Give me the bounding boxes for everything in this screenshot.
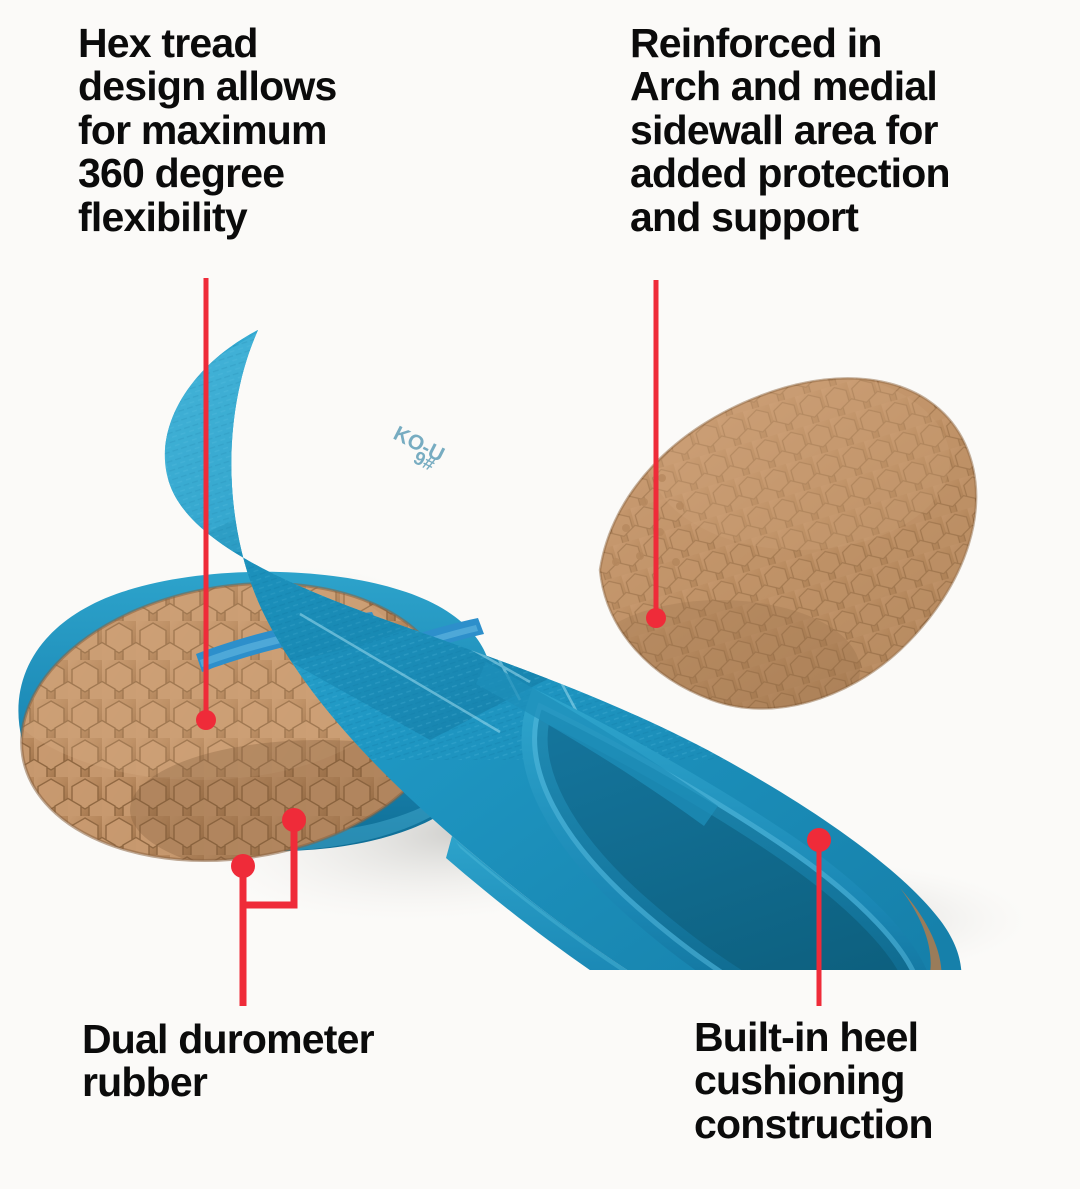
callout-dual-durometer: Dual durometer rubber	[82, 1018, 482, 1105]
emboss-size-9: 9	[529, 527, 556, 545]
upper-insole-embossing: KO-U 9#	[390, 422, 448, 476]
callout-reinforced-arch: Reinforced in Arch and medial sidewall a…	[630, 22, 1050, 239]
callout-hex-tread: Hex tread design allows for maximum 360 …	[78, 22, 458, 239]
upper-insole-gum-forefoot	[570, 350, 1000, 750]
emboss-size-11: 11	[551, 609, 581, 638]
product-photo: KO-U 9# 9 10 8	[0, 270, 1080, 970]
callout-built-in-heel: Built-in heel cushioning construction	[694, 1016, 1080, 1146]
illustration-stage: KO-U 9# 9 10 8	[0, 0, 1080, 1189]
emboss-size-8: 8	[491, 583, 518, 601]
